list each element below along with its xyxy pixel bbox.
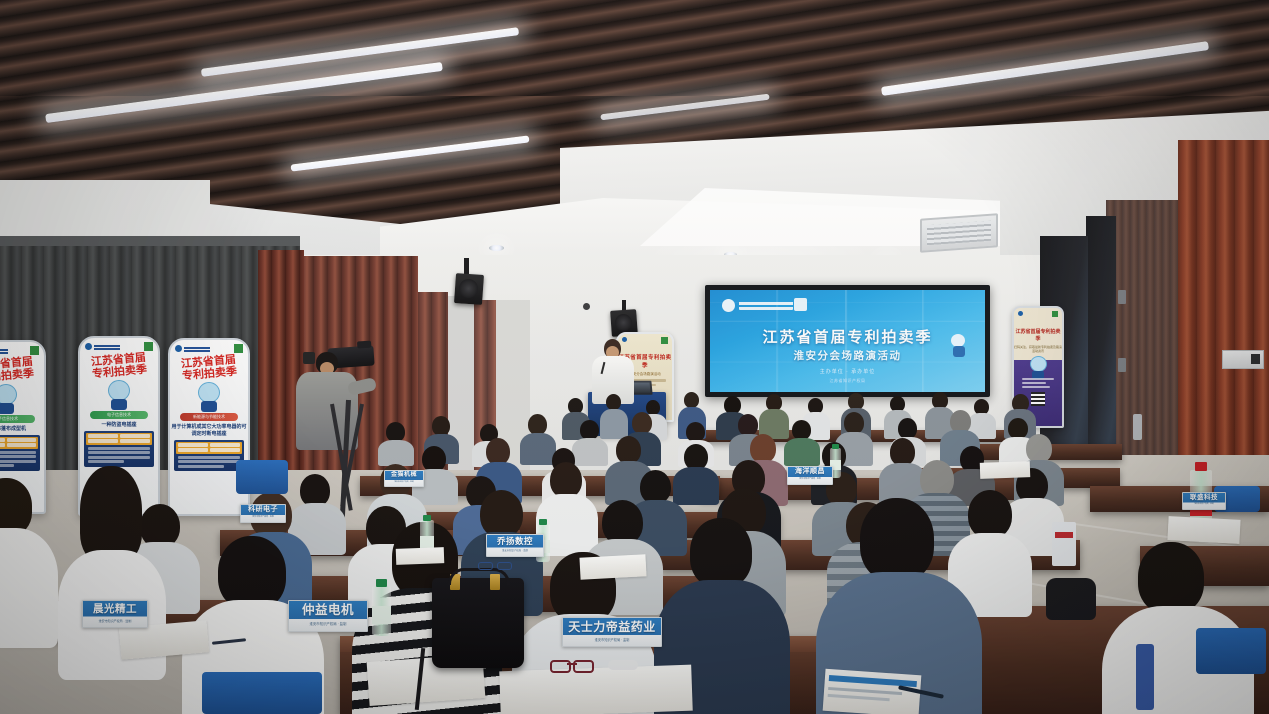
name-plate-org: 淮安市知识产权局 · 监制 [310,620,347,629]
name-plate-org: 淮安市知识产权局 · 监制 [394,480,414,484]
name-plate-text: 天士力帝益药业 [568,618,656,636]
chair-1[interactable] [236,460,288,494]
screen-logo-text [739,301,793,310]
paper-sheet-5[interactable] [1167,516,1240,544]
name-plate: 海洋顺昌 淮安市知识产权局 · 监制 [787,466,833,485]
name-plate: 金猫机械 淮安市知识产权局 · 监制 [384,470,424,487]
name-plate-org: 淮安市知识产权局 · 监制 [99,617,132,625]
screen-meta: 主办单位 · 承办单位 [710,368,985,375]
paper-brochure[interactable] [823,669,922,714]
poster-mascot-icon [1030,356,1046,376]
screen-badge-icon [794,298,807,311]
camera-viewfinder [303,352,315,364]
name-plate: 联盛科技 淮安市知识产权局 · 监制 [1182,492,1226,510]
eyeglasses-2[interactable] [478,562,512,569]
chair-2[interactable] [1196,628,1266,674]
name-plate-text: 仲益电机 [302,601,354,620]
paper-sheet-7[interactable] [396,547,445,565]
qr-icon [144,342,153,351]
wall-control-panel[interactable] [1222,350,1264,369]
curtain-rail [0,236,300,246]
name-plate-text: 科研电子 [248,505,278,515]
handbag[interactable] [432,578,524,668]
name-plate-org: 淮安市知识产权局 · 监制 [252,515,274,520]
name-plate-text: 联盛科技 [1190,493,1218,502]
rollup-1-tag: 电子信息技术 [0,415,35,423]
rollup-3-tag: 新能源与节能技术 [180,413,238,421]
screen-logo-mark [722,299,735,312]
chair-5[interactable] [1136,644,1154,710]
paper-sheet-2[interactable] [499,665,692,714]
name-plate: 晨光精工 淮安市知识产权局 · 监制 [82,600,148,628]
wall-poster-title: 江苏省首届专利拍卖季 [1014,328,1062,342]
ac-cassette-unit [920,213,998,252]
screen-title: 江苏省首届专利拍卖季 [710,326,985,347]
paper-sheet-4[interactable] [980,461,1031,479]
rollup-2-subtitle: 一种防盗电插座 [80,421,158,428]
projection-screen: 江苏省首届专利拍卖季 淮安分会场路演活动 主办单位 · 承办单位 江苏省知识产权… [705,285,990,397]
screen-mascot-icon [951,334,967,358]
conference-photo: 江苏省首届专利拍卖季 淮安分会场路演活动 主办单位 · 承办单位 江苏省知识产权… [0,0,1269,714]
rollup-2-tag: 电子信息技术 [90,411,148,419]
water-bottle-1[interactable] [372,586,391,636]
name-plate: 科研电子 淮安市知识产权局 · 监制 [240,504,286,523]
name-plate-org: 淮安市知识产权局 · 监制 [1194,502,1214,506]
downlight-3 [489,245,504,251]
name-plate-text: 金猫机械 [391,471,417,480]
name-plate-text: 晨光精工 [93,601,137,617]
rollup-3-title: 江苏省首届专利拍卖季 [169,353,249,384]
qr-icon [30,346,39,355]
name-plate-org: 淮安市知识产权局 · 监制 [502,548,528,554]
wall-speaker-left [454,273,484,305]
name-plate-text: 乔扬数控 [497,535,533,548]
name-plate: 天士力帝益药业 淮安市知识产权局 · 监制 [562,617,662,647]
ceiling-sensor [583,303,590,310]
door-hinge-1 [1118,290,1126,304]
door-hinge-2 [1118,358,1126,372]
screen-subtitle: 淮安分会场路演活动 [710,348,985,363]
paper-sheet-3[interactable] [579,554,646,579]
rollup-1-title: 江苏省首届专利拍卖季 [0,355,45,386]
name-plate-org: 淮安市知识产权局 · 监制 [595,636,630,644]
screen-logo [722,299,793,312]
name-plate-text: 海洋顺昌 [795,467,825,477]
tote-bag[interactable] [1052,522,1076,566]
name-plate-org: 淮安市知识产权局 · 监制 [799,477,821,482]
rollup-2-title: 江苏省首届专利拍卖季 [79,351,159,382]
name-plate: 乔扬数控 淮安市知识产权局 · 监制 [486,534,544,557]
glasses-case[interactable] [608,660,638,670]
backpack[interactable] [1046,578,1096,620]
projection-screen-content: 江苏省首届专利拍卖季 淮安分会场路演活动 主办单位 · 承办单位 江苏省知识产权… [710,290,985,392]
wall-poster-subtitle: 扫码关注，获取最新专利拍卖及路演活动资讯 [1014,345,1062,353]
chair-4[interactable] [202,672,322,714]
screen-meta-secondary: 江苏省知识产权局 [710,378,985,384]
eyeglasses[interactable] [550,658,594,670]
name-plate: 仲益电机 淮安市知识产权局 · 监制 [288,600,368,632]
qr-icon [234,344,243,353]
